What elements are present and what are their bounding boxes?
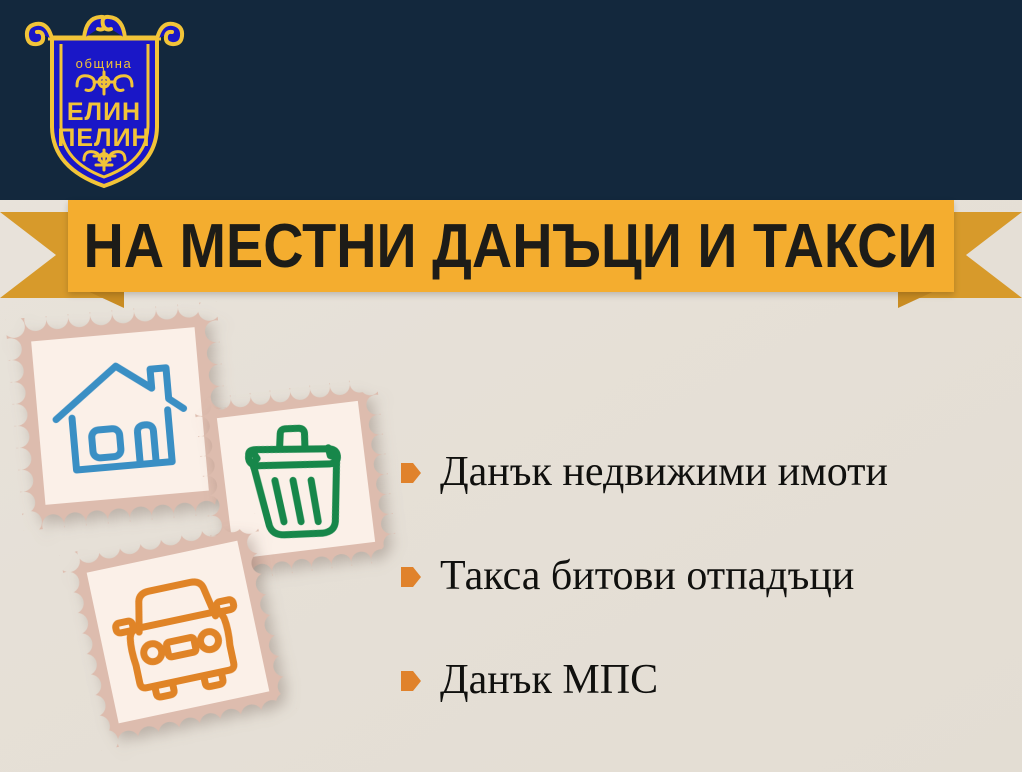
logo-text-pelin: ПЕЛИН: [57, 124, 150, 152]
ribbon-band: НА МЕСТНИ ДАНЪЦИ И ТАКСИ: [68, 200, 954, 292]
ribbon-banner: НА МЕСТНИ ДАНЪЦИ И ТАКСИ: [0, 196, 1022, 306]
stamp-card-group: [0, 300, 420, 772]
municipality-logo: община ЕЛИН ПЕЛИН: [22, 8, 187, 194]
logo-text-obshtina: община: [76, 56, 133, 71]
stamp-card-vehicle: [59, 513, 296, 750]
list-item[interactable]: Данък МПС: [400, 628, 1012, 732]
list-item-label: Данък недвижими имоти: [440, 451, 888, 493]
list-item-label: Данък МПС: [440, 659, 658, 701]
arrow-bullet-icon: [400, 669, 422, 693]
ribbon-label: НА МЕСТНИ ДАНЪЦИ И ТАКСИ: [84, 211, 938, 282]
logo-text-elin: ЕЛИН: [67, 98, 141, 126]
list-item[interactable]: Такса битови отпадъци: [400, 524, 1012, 628]
list-item-label: Такса битови отпадъци: [440, 555, 854, 597]
arrow-bullet-icon: [400, 565, 422, 589]
arrow-bullet-icon: [400, 461, 422, 485]
coat-of-arms-icon: община ЕЛИН ПЕЛИН: [22, 8, 187, 194]
list-item[interactable]: Данък недвижими имоти: [400, 420, 1012, 524]
vehicle-stamp: [59, 513, 296, 750]
tax-type-list: Данък недвижими имоти Такса битови отпад…: [400, 420, 1012, 732]
poster-canvas: ПРОВЕРКА И ПЛАЩАНЕ НА ЗАДЪЛЖЕНИЯ община: [0, 0, 1022, 772]
